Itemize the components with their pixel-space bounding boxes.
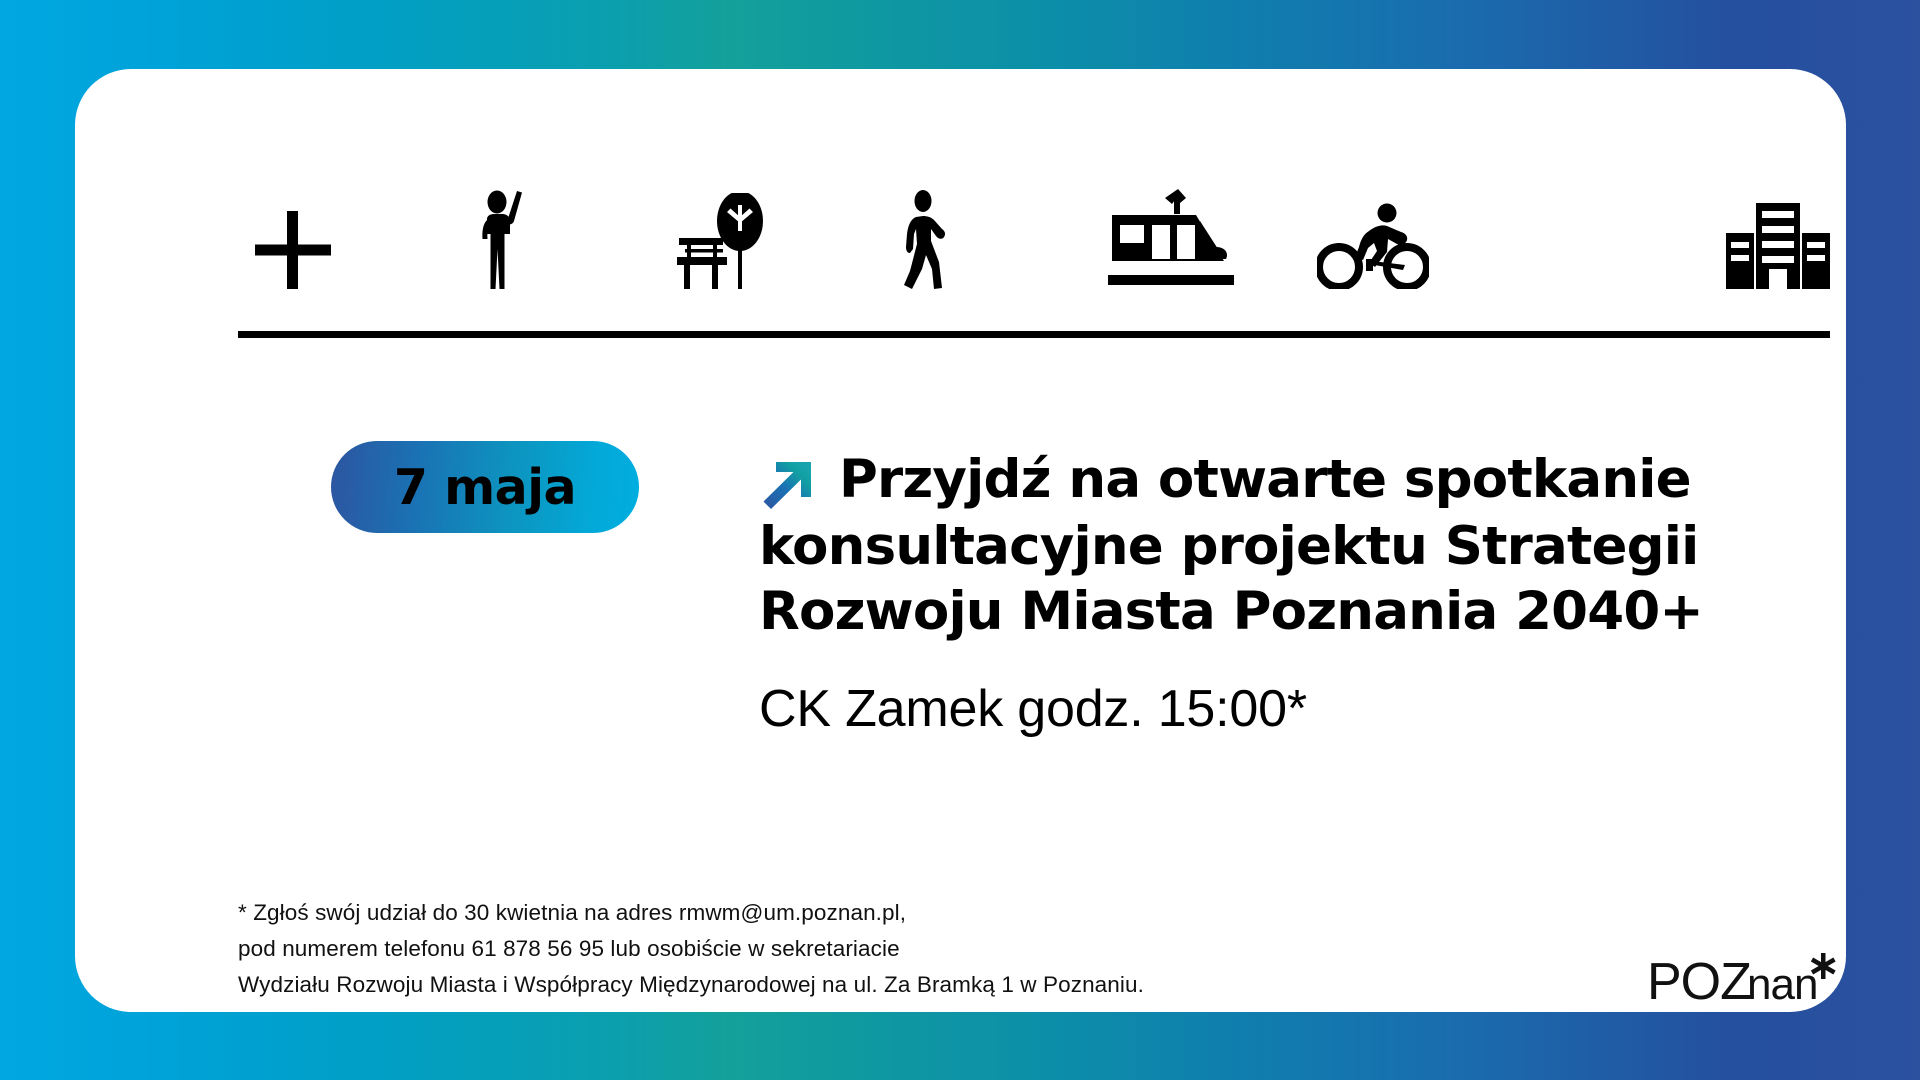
city-buildings-icon: [1510, 177, 1830, 289]
footnote-line-3: Wydziału Rozwoju Miasta i Współpracy Mię…: [238, 967, 1438, 1003]
svg-text:POZ: POZ: [1647, 953, 1751, 1009]
tram-icon: [1086, 177, 1256, 289]
pedestrian-walking-icon: [874, 177, 984, 289]
arrow-up-right-icon: [759, 460, 813, 514]
person-waving-icon: [450, 177, 560, 289]
poster-card: 7 maja Przyjdź na otwarte s: [75, 69, 1846, 1012]
footnote-line-1: * Zgłoś swój udział do 30 kwietnia na ad…: [238, 895, 1438, 931]
date-badge: 7 maja: [331, 441, 639, 533]
cyclist-icon: [1298, 177, 1448, 289]
date-badge-label: 7 maja: [394, 463, 576, 512]
icon-strip: [238, 177, 1830, 289]
headline-line-2: konsultacyjne projektu Strategii: [759, 514, 1779, 579]
main-content: Przyjdź na otwarte spotkanie konsultacyj…: [759, 447, 1779, 738]
footnote: * Zgłoś swój udział do 30 kwietnia na ad…: [238, 895, 1438, 1003]
header-divider: [238, 331, 1830, 338]
footnote-line-2: pod numerem telefonu 61 878 56 95 lub os…: [238, 931, 1438, 967]
headline-line-1: Przyjdź na otwarte spotkanie: [839, 447, 1691, 512]
park-bench-tree-icon: [662, 177, 792, 289]
headline-first-line: Przyjdź na otwarte spotkanie: [759, 447, 1779, 514]
poznan-logo: POZ nan: [1647, 947, 1837, 1009]
headline-line-3: Rozwoju Miasta Poznania 2040+: [759, 579, 1779, 644]
plus-icon: [238, 177, 348, 289]
subheadline: CK Zamek godz. 15:00*: [759, 681, 1779, 738]
svg-text:nan: nan: [1747, 960, 1817, 1009]
